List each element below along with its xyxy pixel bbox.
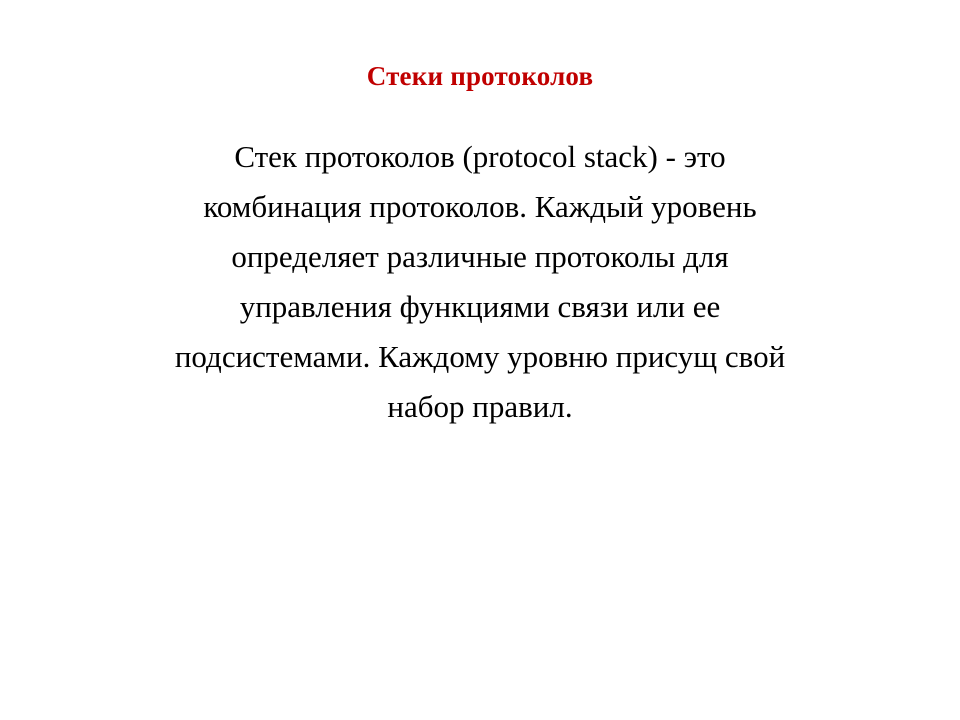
body-line: комбинация протоколов. Каждый уровень	[40, 182, 920, 232]
body-line: Стек протоколов (protocol stack) - это	[40, 132, 920, 182]
slide-canvas: Стеки протоколов Стек протоколов (protoc…	[0, 0, 960, 720]
body-line: определяет различные протоколы для	[40, 232, 920, 282]
page-title: Стеки протоколов	[0, 60, 960, 92]
slide-empty-region	[0, 440, 960, 720]
body-line: набор правил.	[40, 382, 920, 432]
body-line: подсистемами. Каждому уровню присущ свой	[40, 332, 920, 382]
slide-body-text: Стек протоколов (protocol stack) - это к…	[40, 132, 920, 432]
body-line: управления функциями связи или ее	[40, 282, 920, 332]
